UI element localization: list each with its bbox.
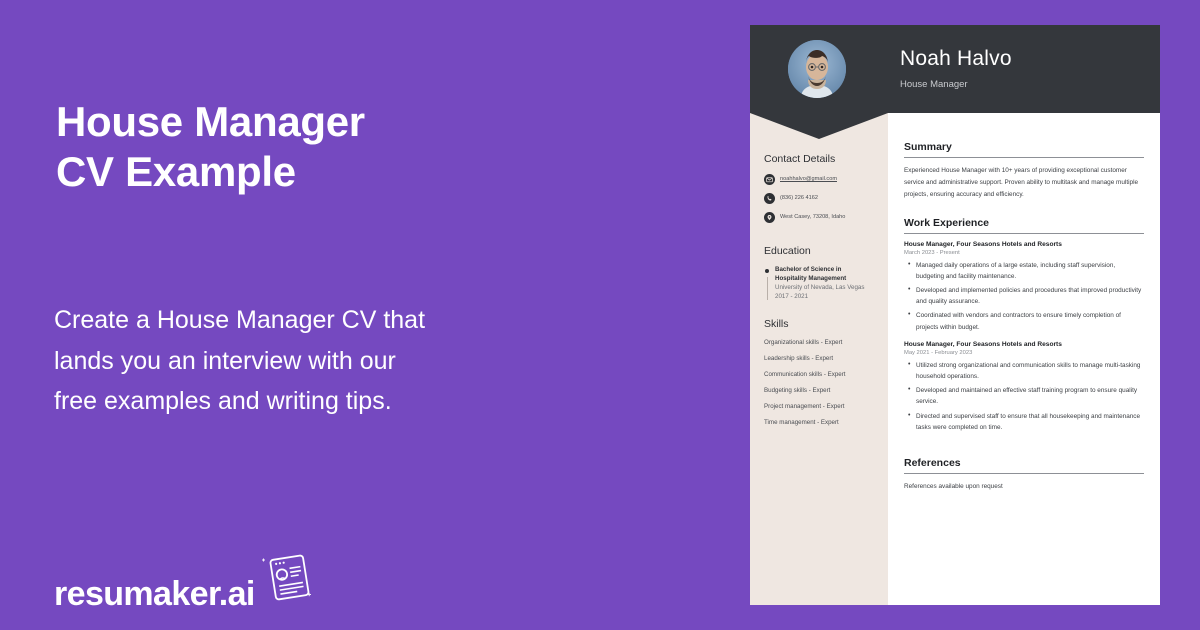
contact-email-text[interactable]: noahhalvo@gmail.com xyxy=(780,176,837,183)
avatar xyxy=(788,40,846,98)
logo-wordmark: resumaker.ai xyxy=(54,577,255,611)
cv-preview-card[interactable]: Noah Halvo House Manager Contact Details… xyxy=(750,25,1160,605)
page-title: House Manager CV Example xyxy=(56,97,656,198)
work-experience-item: House Manager, Four Seasons Hotels and R… xyxy=(904,341,1144,433)
list-item: Communication skills - Expert xyxy=(764,371,874,378)
list-item: Developed and implemented policies and p… xyxy=(916,285,1144,307)
list-item: Project management - Expert xyxy=(764,403,874,410)
contact-details-heading: Contact Details xyxy=(764,153,874,165)
references-heading: References xyxy=(904,457,1144,474)
contact-item-location[interactable]: West Casey, 73208, Idaho xyxy=(764,212,874,223)
summary-text: Experienced House Manager with 10+ years… xyxy=(904,165,1144,201)
list-item: Managed daily operations of a large esta… xyxy=(916,260,1144,282)
contact-item-email[interactable]: noahhalvo@gmail.com xyxy=(764,174,874,185)
education-entry: Bachelor of Science in Hospitality Manag… xyxy=(764,266,874,302)
education-dates: 2017 - 2021 xyxy=(775,293,874,302)
education-degree: Bachelor of Science in Hospitality Manag… xyxy=(775,266,874,284)
education-school: University of Nevada, Las Vegas xyxy=(775,284,874,293)
work-experience-item: House Manager, Four Seasons Hotels and R… xyxy=(904,241,1144,333)
references-text: References available upon request xyxy=(904,481,1144,493)
promo-panel: House Manager CV Example Create a House … xyxy=(0,0,740,630)
job-title: House Manager, Four Seasons Hotels and R… xyxy=(904,241,1144,248)
page-canvas: House Manager CV Example Create a House … xyxy=(0,0,1200,630)
skills-heading: Skills xyxy=(764,318,874,330)
job-title: House Manager, Four Seasons Hotels and R… xyxy=(904,341,1144,348)
skills-list: Organizational skills - Expert Leadershi… xyxy=(764,339,874,426)
cv-candidate-name: Noah Halvo xyxy=(900,47,1012,71)
summary-heading: Summary xyxy=(904,141,1144,158)
location-pin-icon xyxy=(764,212,775,223)
list-item: Organizational skills - Expert xyxy=(764,339,874,346)
resume-document-icon xyxy=(259,552,313,609)
list-item: Leadership skills - Expert xyxy=(764,355,874,362)
job-bullet-list: Utilized strong organizational and commu… xyxy=(904,360,1144,433)
contact-phone-text: (836) 226 4162 xyxy=(780,195,818,202)
promo-subtitle: Create a House Manager CV that lands you… xyxy=(54,300,484,422)
education-timeline xyxy=(764,266,775,302)
phone-icon xyxy=(764,193,775,204)
list-item: Utilized strong organizational and commu… xyxy=(916,360,1144,382)
list-item: Directed and supervised staff to ensure … xyxy=(916,411,1144,433)
list-item: Budgeting skills - Expert xyxy=(764,387,874,394)
contact-item-phone[interactable]: (836) 226 4162 xyxy=(764,193,874,204)
cv-main-column: Summary Experienced House Manager with 1… xyxy=(888,113,1160,605)
envelope-icon xyxy=(764,174,775,185)
education-heading: Education xyxy=(764,245,874,257)
work-experience-heading: Work Experience xyxy=(904,217,1144,234)
cv-candidate-role: House Manager xyxy=(900,79,968,90)
list-item: Coordinated with vendors and contractors… xyxy=(916,310,1144,332)
resumaker-logo[interactable]: resumaker.ai xyxy=(54,552,313,611)
cv-sidebar: Contact Details noahhalvo@gmail.com (836… xyxy=(750,113,888,605)
contact-location-text: West Casey, 73208, Idaho xyxy=(780,214,845,221)
education-timeline-line xyxy=(767,277,768,300)
list-item: Time management - Expert xyxy=(764,419,874,426)
job-dates: March 2023 - Present xyxy=(904,250,1144,256)
list-item: Developed and maintained an effective st… xyxy=(916,385,1144,407)
job-dates: May 2021 - February 2023 xyxy=(904,350,1144,356)
job-bullet-list: Managed daily operations of a large esta… xyxy=(904,260,1144,333)
education-bullet-dot xyxy=(765,269,769,273)
